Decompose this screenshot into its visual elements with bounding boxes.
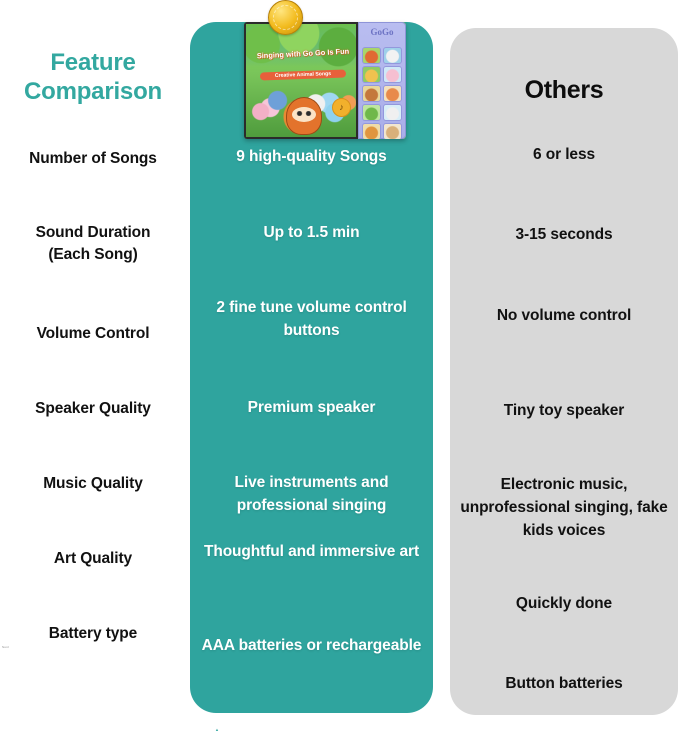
feature-label-text: Number of Songs bbox=[0, 148, 186, 170]
cover-mascot-icon bbox=[286, 97, 322, 135]
others-value-music-quality: Electronic music, unprofessional singing… bbox=[456, 474, 672, 543]
feature-label-text: Sound Duration bbox=[0, 222, 186, 244]
feature-label-art-quality: Art Quality bbox=[0, 548, 186, 570]
feature-labels-column: Feature Comparison Number of Songs Sound… bbox=[0, 0, 186, 735]
others-value-battery-type: Button batteries bbox=[456, 673, 672, 696]
feature-label-text: Battery type bbox=[0, 623, 186, 645]
product-value-art-quality: Thoughtful and immersive art bbox=[196, 541, 427, 564]
watermark-text: Sunl bbox=[2, 645, 9, 649]
product-value-volume-control: 2 fine tune volume control buttons bbox=[196, 297, 427, 343]
product-column: Singing with Go Go Is Fun Creative Anima… bbox=[190, 22, 433, 713]
page-title-line-1: Feature bbox=[0, 48, 186, 77]
speaker-icon: ♪ bbox=[332, 98, 351, 117]
others-value-sound-duration: 3-15 seconds bbox=[456, 224, 672, 247]
product-value-music-quality: Live instruments and professional singin… bbox=[196, 472, 427, 518]
sound-button[interactable] bbox=[362, 123, 381, 139]
footer-marker: ▲ bbox=[215, 727, 219, 732]
gold-award-medal-icon bbox=[268, 0, 303, 35]
feature-label-text: Art Quality bbox=[0, 548, 186, 570]
feature-label-sound-duration: Sound Duration (Each Song) bbox=[0, 222, 186, 267]
sound-button[interactable] bbox=[383, 123, 402, 139]
sound-button[interactable] bbox=[362, 47, 381, 64]
sound-button-grid bbox=[362, 47, 404, 139]
sound-button[interactable] bbox=[383, 66, 402, 83]
others-value-speaker-quality: Tiny toy speaker bbox=[456, 400, 672, 423]
feature-label-music-quality: Music Quality bbox=[0, 473, 186, 495]
page-title-line-2: Comparison bbox=[0, 77, 186, 106]
sound-button[interactable] bbox=[383, 85, 402, 102]
sound-button[interactable] bbox=[362, 104, 381, 121]
module-logo: GoGo bbox=[359, 27, 405, 37]
others-value-art-quality: Quickly done bbox=[456, 593, 672, 616]
sound-button[interactable] bbox=[362, 85, 381, 102]
others-value-number-of-songs: 6 or less bbox=[456, 144, 672, 167]
product-value-number-of-songs: 9 high-quality Songs bbox=[196, 146, 427, 169]
sound-button[interactable] bbox=[383, 104, 402, 121]
others-column-title: Others bbox=[450, 76, 678, 105]
feature-label-speaker-quality: Speaker Quality bbox=[0, 398, 186, 420]
feature-label-number-of-songs: Number of Songs bbox=[0, 148, 186, 170]
page-title: Feature Comparison bbox=[0, 48, 186, 107]
feature-label-text: Music Quality bbox=[0, 473, 186, 495]
sound-button[interactable] bbox=[362, 66, 381, 83]
feature-label-battery-type: Battery type bbox=[0, 623, 186, 645]
others-value-volume-control: No volume control bbox=[456, 305, 672, 328]
sound-button[interactable] bbox=[383, 47, 402, 64]
product-value-battery-type: AAA batteries or rechargeable bbox=[196, 635, 427, 658]
feature-label-text-secondary: (Each Song) bbox=[0, 244, 186, 266]
feature-label-volume-control: Volume Control bbox=[0, 323, 186, 345]
others-column: Others 6 or less 3-15 seconds No volume … bbox=[450, 28, 678, 715]
sound-book-product-photo: Singing with Go Go Is Fun Creative Anima… bbox=[244, 22, 406, 139]
product-value-sound-duration: Up to 1.5 min bbox=[196, 222, 427, 245]
feature-label-text: Speaker Quality bbox=[0, 398, 186, 420]
feature-label-text: Volume Control bbox=[0, 323, 186, 345]
sound-module-panel: GoGo bbox=[358, 22, 406, 139]
product-image: Singing with Go Go Is Fun Creative Anima… bbox=[236, 0, 410, 146]
book-cover: Singing with Go Go Is Fun Creative Anima… bbox=[244, 22, 358, 139]
product-value-speaker-quality: Premium speaker bbox=[196, 397, 427, 420]
